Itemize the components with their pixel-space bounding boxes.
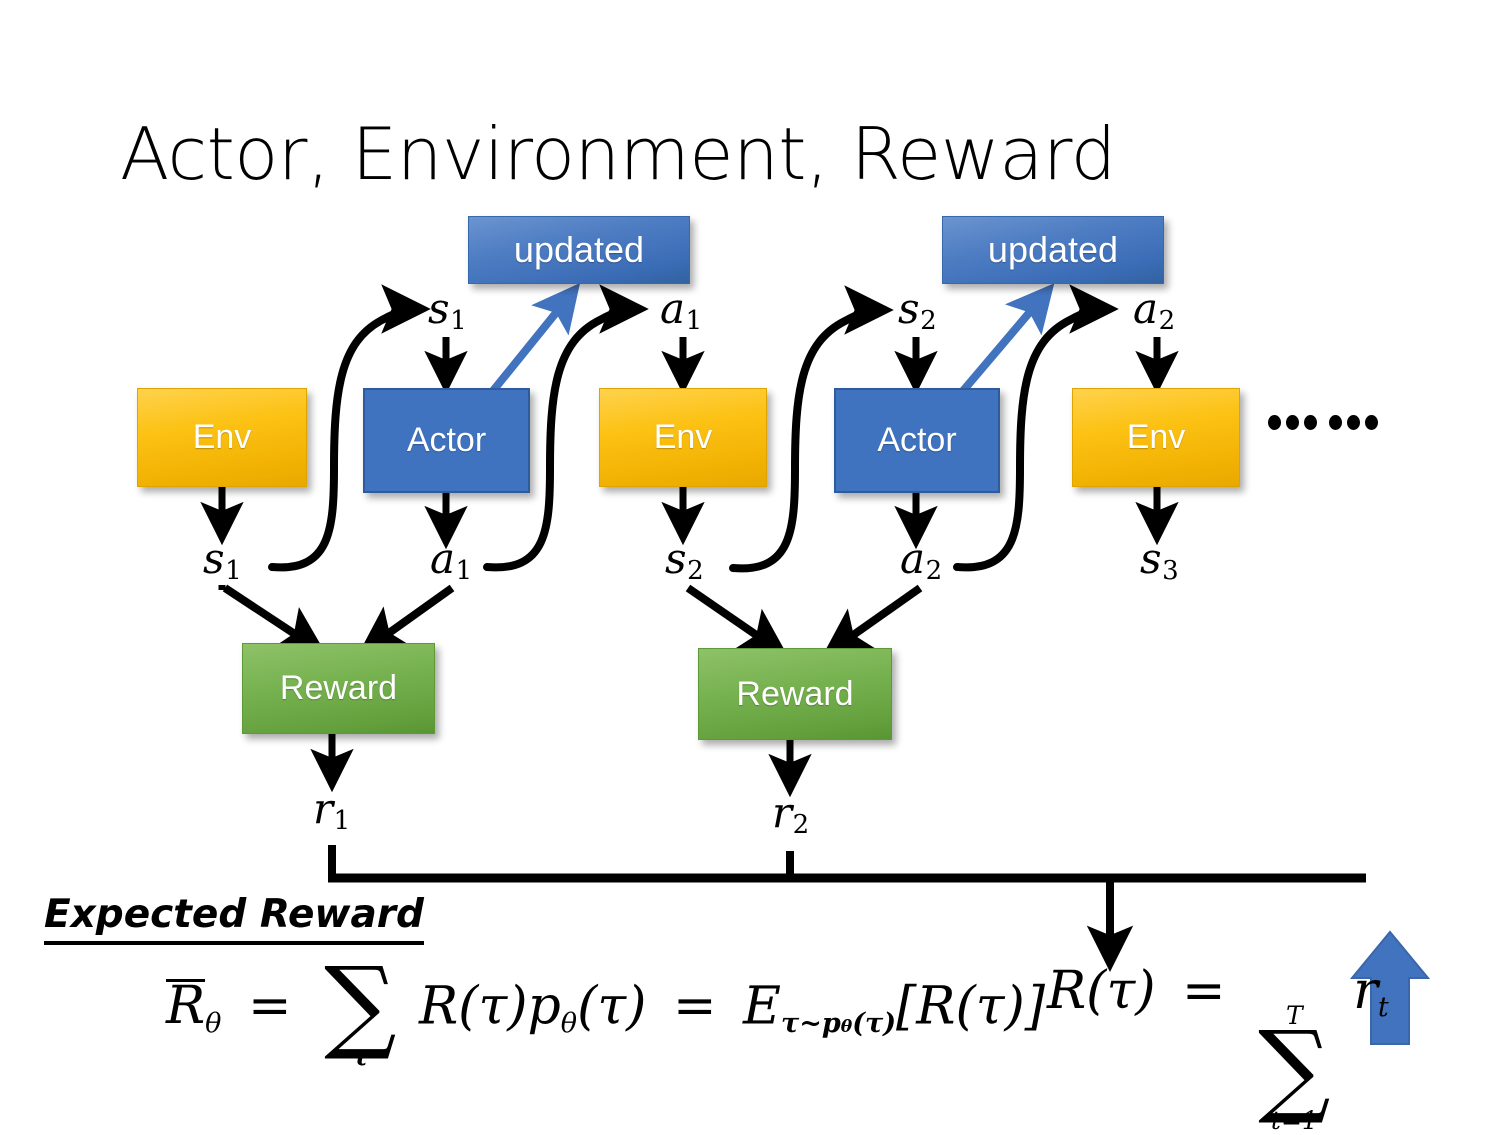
- ellipsis-dot: [1268, 415, 1281, 430]
- env-box-2[interactable]: Env: [599, 388, 767, 487]
- formula-expectation-base: E: [743, 976, 781, 1036]
- env-box-2-label: Env: [654, 418, 713, 457]
- sum-glyph: ∑: [324, 965, 396, 1044]
- formula-expectation-sub-theta: θ: [841, 1019, 852, 1036]
- label-r2: r2: [772, 792, 809, 838]
- env-box-3[interactable]: Env: [1072, 388, 1240, 487]
- formula-equals-1: =: [248, 976, 292, 1036]
- label-a1-bottom-base: a: [430, 534, 455, 583]
- label-a1-top-sub: 1: [686, 306, 703, 336]
- label-s1-top-base: s: [428, 284, 450, 333]
- sum-lower-limit: t=1: [1271, 1109, 1318, 1134]
- actor-box-1[interactable]: Actor: [363, 388, 530, 493]
- label-s1-bottom-sub: 1: [225, 556, 242, 586]
- reward-box-2[interactable]: Reward: [698, 648, 892, 740]
- label-s2-top: s2: [898, 288, 937, 334]
- updated-box-2-label: updated: [988, 229, 1118, 271]
- label-a2-bottom-base: a: [900, 534, 925, 583]
- ellipsis-dot: [1365, 415, 1378, 430]
- expected-reward-formula: Rθ = ∑ τ R(τ)pθ(τ) = Eτ~pθ(τ)[R(τ)]: [166, 965, 1045, 1070]
- summation-over-tau: ∑ τ: [324, 965, 396, 1070]
- formula-term-rp: R(τ)p: [419, 976, 561, 1036]
- updated-box-2[interactable]: updated: [942, 216, 1164, 284]
- label-a2-bottom: a2: [900, 538, 942, 584]
- actor-box-1-label: Actor: [407, 421, 486, 460]
- page-title: Actor, Environment, Reward: [120, 118, 1116, 190]
- ellipsis-dot: [1329, 415, 1342, 430]
- label-a1-bottom: a1: [430, 538, 472, 584]
- formula-rbar-base: R: [166, 979, 205, 1031]
- label-r1: r1: [313, 788, 350, 834]
- ellipsis-dot: [1286, 415, 1299, 430]
- label-a1-bottom-sub: 1: [456, 556, 473, 586]
- label-a2-bottom-sub: 2: [926, 556, 943, 586]
- return-formula: R(τ) = T ∑ t=1 rt: [1047, 965, 1389, 1134]
- env-box-1-label: Env: [193, 418, 252, 457]
- reward-box-2-label: Reward: [736, 675, 853, 714]
- formula-term-rp-tail: (τ): [577, 976, 646, 1036]
- ellipsis-indicator: [1268, 415, 1378, 430]
- label-a2-top: a2: [1133, 288, 1175, 334]
- label-a1-top: a1: [660, 288, 702, 334]
- env-box-3-label: Env: [1127, 418, 1186, 457]
- sum-lower-limit: τ: [352, 1045, 369, 1070]
- label-s3-bottom-sub: 3: [1162, 556, 1179, 586]
- reward-box-1-label: Reward: [280, 669, 397, 708]
- formula-expectation-sub-tail: (τ): [852, 1010, 896, 1037]
- return-formula-term-base: r: [1353, 961, 1378, 1021]
- label-s2-bottom-base: s: [665, 534, 687, 583]
- return-formula-equals: =: [1182, 961, 1226, 1021]
- label-s1-bottom: s1: [203, 538, 242, 584]
- label-s2-top-base: s: [898, 284, 920, 333]
- formula-rbar-sub: θ: [205, 1010, 221, 1037]
- label-a2-top-base: a: [1133, 284, 1158, 333]
- actor-box-2-label: Actor: [877, 421, 956, 460]
- label-s1-bottom-base: s: [203, 534, 225, 583]
- actor-box-2[interactable]: Actor: [834, 388, 1000, 493]
- label-a2-top-sub: 2: [1159, 306, 1176, 336]
- label-s3-bottom: s3: [1140, 538, 1179, 584]
- label-s3-bottom-base: s: [1140, 534, 1162, 583]
- updated-box-1[interactable]: updated: [468, 216, 690, 284]
- return-formula-lhs: R(τ): [1047, 961, 1156, 1021]
- label-r2-base: r: [772, 788, 792, 837]
- label-s2-top-sub: 2: [920, 306, 937, 336]
- ellipsis-dot: [1304, 415, 1317, 430]
- label-r1-base: r: [313, 784, 333, 833]
- reward-box-1[interactable]: Reward: [242, 643, 435, 734]
- label-s1-top: s1: [428, 288, 467, 334]
- slide-canvas: Actor, Environment, Reward: [0, 0, 1500, 1125]
- label-s2-bottom-sub: 2: [687, 556, 704, 586]
- label-a1-top-base: a: [660, 284, 685, 333]
- return-formula-term-sub: t: [1378, 994, 1389, 1021]
- sum-glyph: ∑: [1258, 1029, 1330, 1108]
- updated-box-1-label: updated: [514, 229, 644, 271]
- label-s1-top-sub: 1: [450, 306, 467, 336]
- formula-term-rp-sub: θ: [561, 1010, 577, 1037]
- label-r2-sub: 2: [793, 810, 810, 840]
- summation-over-t: T ∑ t=1: [1258, 1004, 1330, 1134]
- label-r1-sub: 1: [334, 806, 351, 836]
- formula-expectation-sub: τ~p: [781, 1010, 841, 1037]
- label-s2-bottom: s2: [665, 538, 704, 584]
- formula-expectation-bracket: [R(τ)]: [896, 976, 1045, 1036]
- formula-equals-2: =: [673, 976, 717, 1036]
- expected-reward-heading: Expected Reward: [44, 895, 424, 945]
- env-box-1[interactable]: Env: [137, 388, 307, 487]
- ellipsis-dot: [1347, 415, 1360, 430]
